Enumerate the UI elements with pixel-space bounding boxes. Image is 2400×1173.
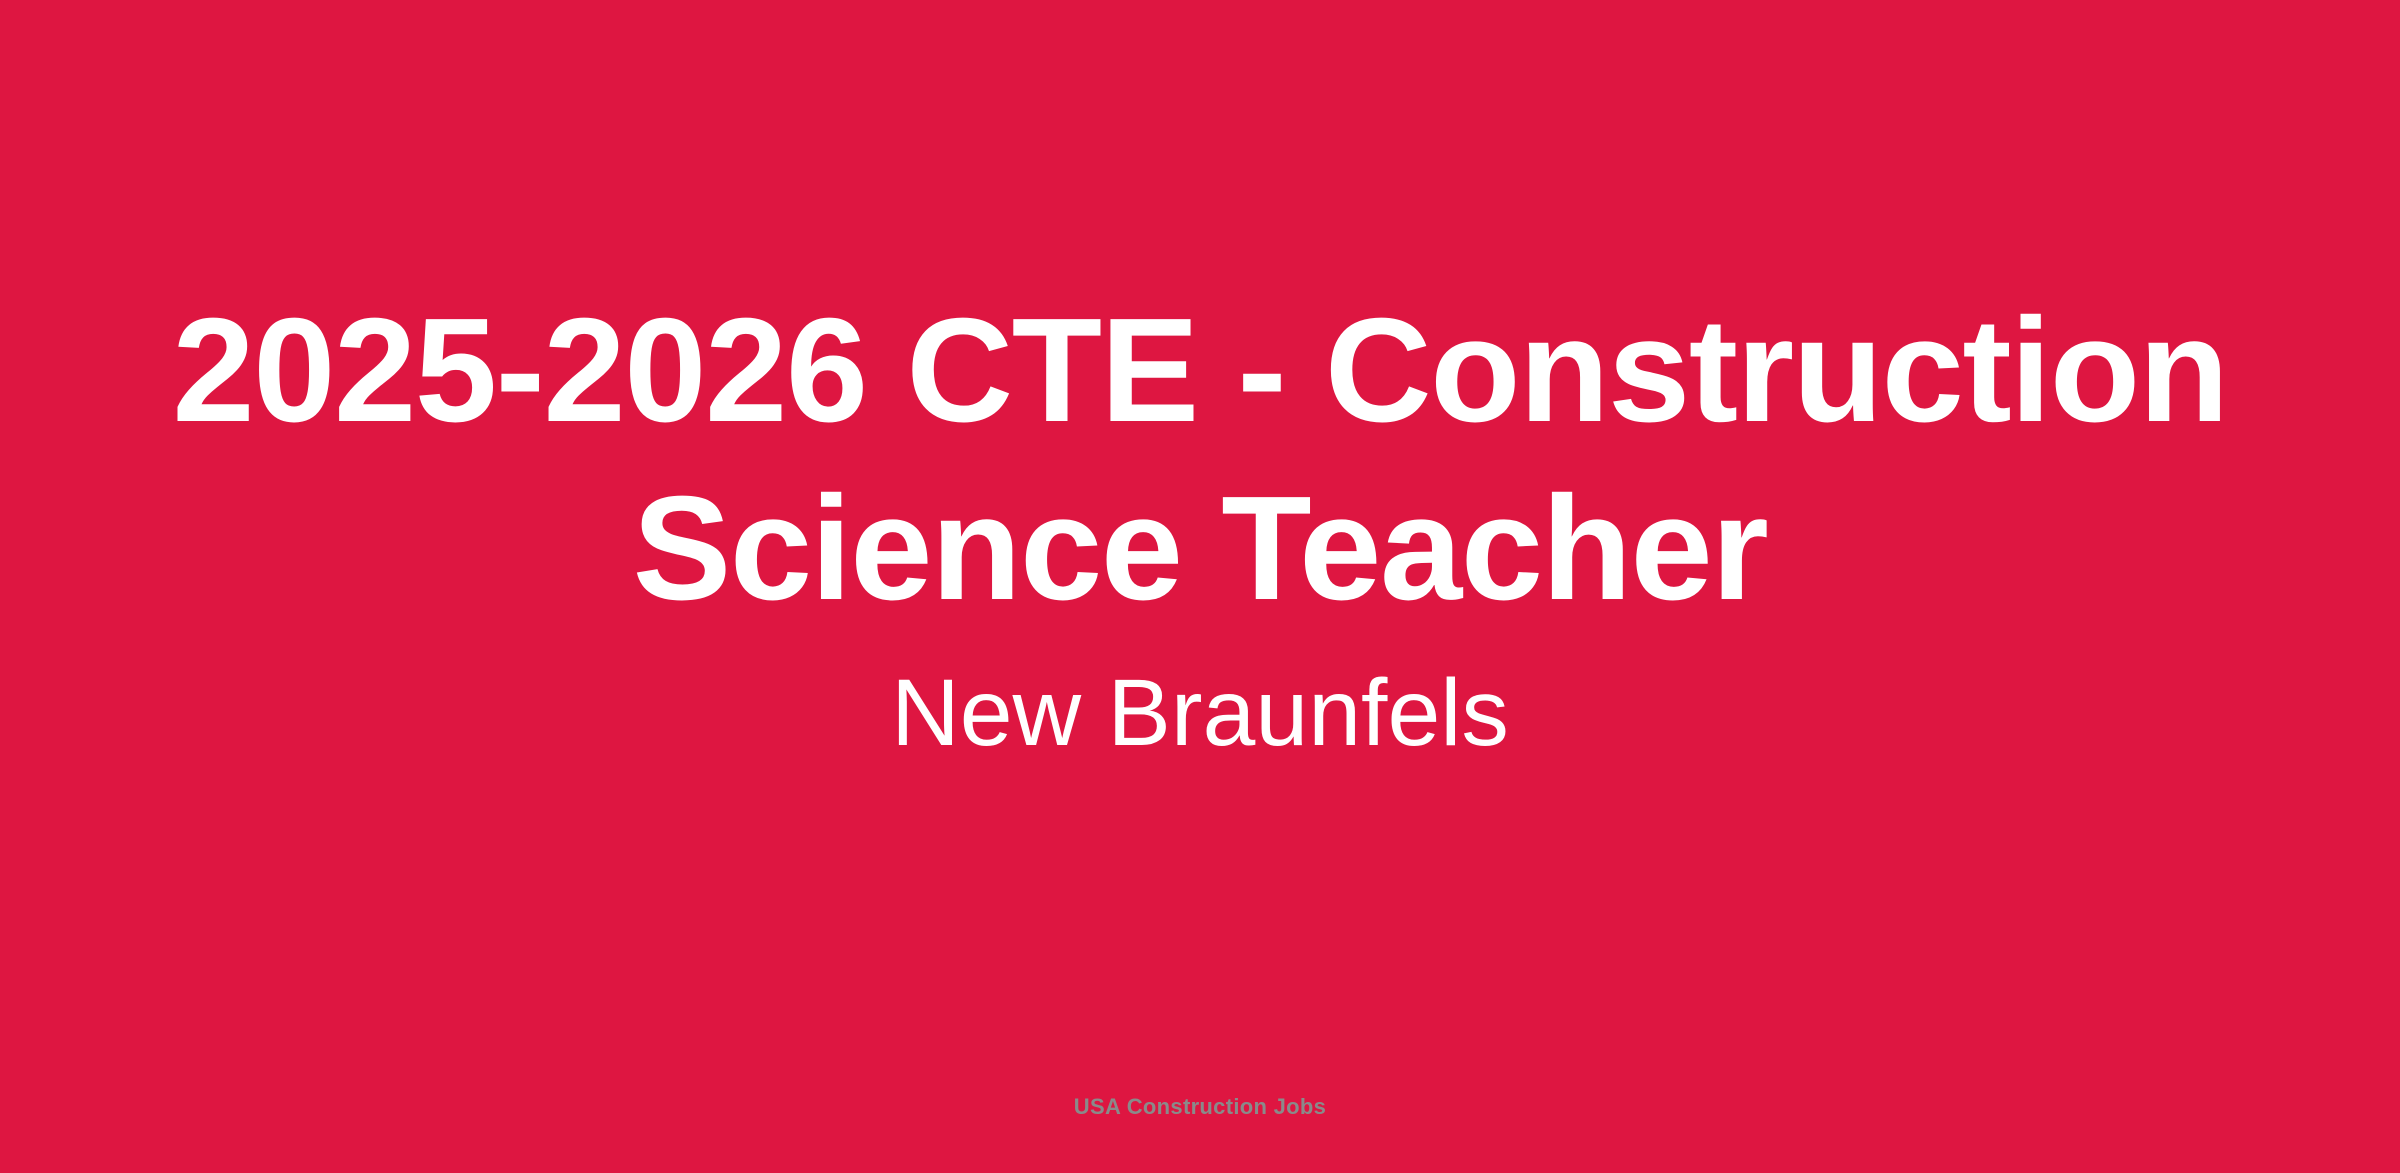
page-title: 2025-2026 CTE - Construction Science Tea…: [120, 282, 2280, 638]
page-subtitle-location: New Braunfels: [891, 654, 1509, 772]
footer: USA Construction Jobs: [0, 1093, 2400, 1121]
footer-attribution-label: USA Construction Jobs: [1074, 1093, 1326, 1121]
job-posting-card: 2025-2026 CTE - Construction Science Tea…: [0, 0, 2400, 1173]
hero-text-block: 2025-2026 CTE - Construction Science Tea…: [120, 282, 2280, 772]
